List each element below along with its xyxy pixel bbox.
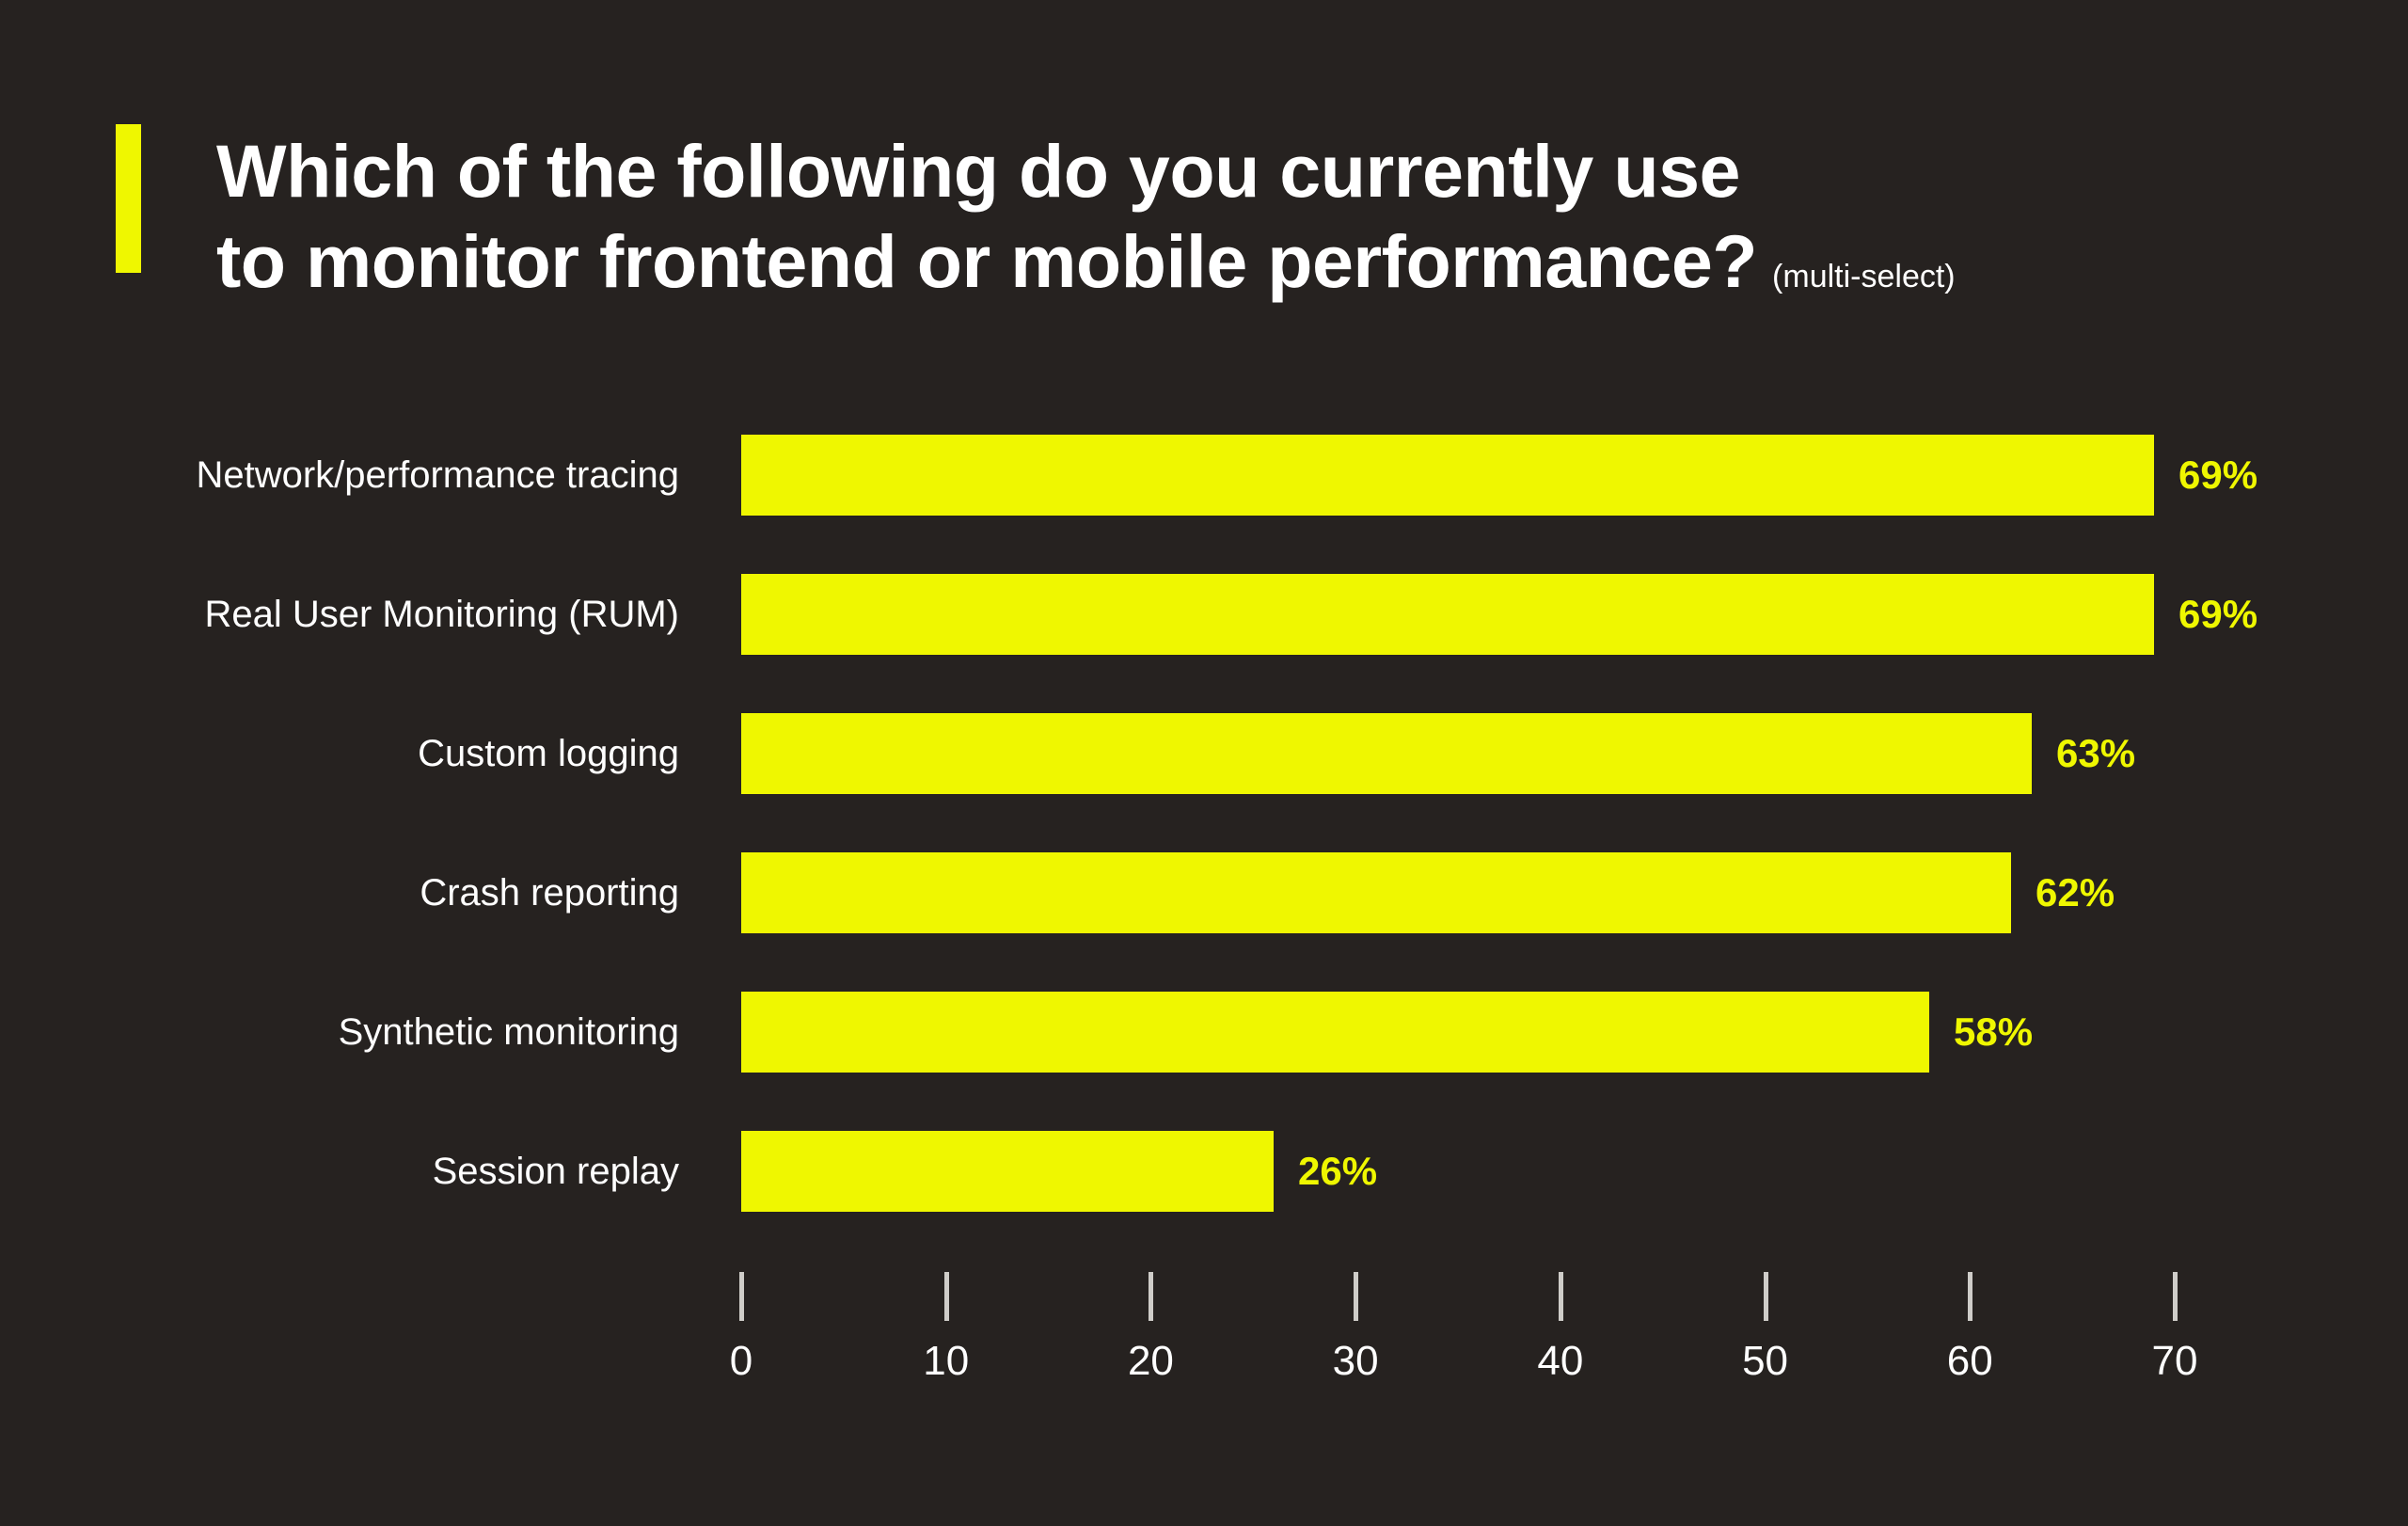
bar-row: Custom logging63% [0,713,2408,794]
axis-tick-label: 0 [730,1338,752,1385]
axis-tick-label: 50 [1742,1338,1788,1385]
axis-tick-mark [1559,1272,1563,1321]
bar-category-label: Custom logging [418,713,679,794]
bar-value-label: 69% [2178,435,2257,516]
bar-category-label: Synthetic monitoring [339,992,679,1073]
bar-row: Network/performance tracing69% [0,435,2408,516]
bar-rect[interactable] [741,574,2154,655]
bar-value-label: 62% [2036,852,2115,933]
bar-rect[interactable] [741,713,2032,794]
axis-tick-mark [1968,1272,1972,1321]
bar-category-label: Session replay [433,1131,679,1212]
axis-tick-label: 70 [2152,1338,2198,1385]
axis-tick-mark [1149,1272,1153,1321]
bar-category-label: Crash reporting [420,852,679,933]
axis-tick-label: 60 [1947,1338,1993,1385]
bar-rect[interactable] [741,435,2154,516]
axis-tick-mark [944,1272,949,1321]
bar-rect[interactable] [741,852,2011,933]
bar-value-label: 69% [2178,574,2257,655]
axis-tick-mark [1764,1272,1768,1321]
bar-row: Session replay26% [0,1131,2408,1212]
axis-tick-mark [739,1272,744,1321]
bar-row: Synthetic monitoring58% [0,992,2408,1073]
bar-chart: Network/performance tracing69%Real User … [0,0,2408,1526]
bar-rect[interactable] [741,992,1929,1073]
bar-row: Crash reporting62% [0,852,2408,933]
bar-category-label: Real User Monitoring (RUM) [204,574,679,655]
bar-category-label: Network/performance tracing [196,435,679,516]
axis-tick-label: 20 [1128,1338,1174,1385]
bar-rect[interactable] [741,1131,1274,1212]
bar-value-label: 26% [1298,1131,1377,1212]
bar-value-label: 63% [2056,713,2135,794]
axis-tick-label: 40 [1537,1338,1583,1385]
axis-tick-label: 30 [1333,1338,1379,1385]
axis-tick-mark [1354,1272,1358,1321]
bar-value-label: 58% [1954,992,2033,1073]
x-axis: 010203040506070 [0,1272,2408,1404]
axis-tick-label: 10 [923,1338,969,1385]
axis-tick-mark [2173,1272,2178,1321]
bar-row: Real User Monitoring (RUM)69% [0,574,2408,655]
